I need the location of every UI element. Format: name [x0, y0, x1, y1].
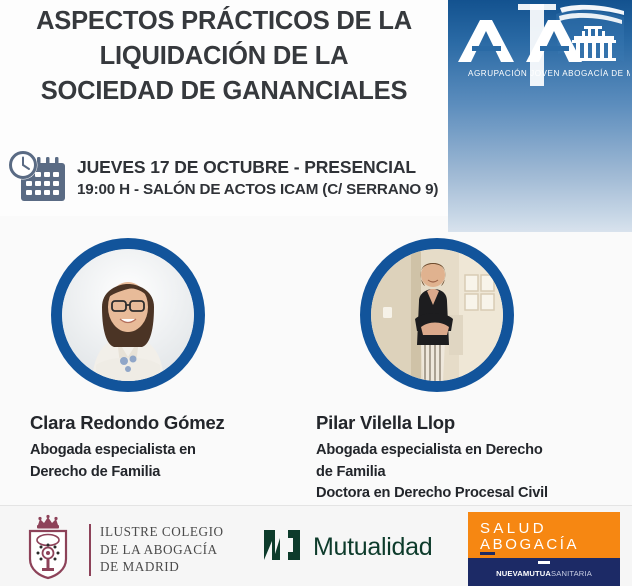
sponsor-footer: ILUSTRE COLEGIO DE LA ABOGACÍA DE MADRID…	[0, 506, 632, 586]
speaker-role-line: Doctora en Derecho Procesal Civil	[316, 483, 602, 504]
mutualidad-logo: Mutualidad	[262, 528, 432, 567]
speaker-role: Abogada especialista en Derecho de Famil…	[30, 440, 316, 483]
speakers-section: Clara Redondo Gómez Abogada especialista…	[0, 238, 632, 500]
icam-logo: ILUSTRE COLEGIO DE LA ABOGACÍA DE MADRID	[22, 514, 224, 585]
speaker-role: Abogada especialista en Derecho de Famil…	[316, 440, 602, 504]
aja-tagline: AGRUPACIÓN JOVEN ABOGACÍA DE MADRID	[468, 69, 630, 78]
icam-line-2: DE LA ABOGACÍA	[100, 541, 224, 559]
nuevamutua-sanitaria-wordmark: NUEVAMUTUASANITARIA	[496, 569, 592, 578]
speaker-photo-1	[62, 249, 194, 381]
calendar-clock-icon	[6, 150, 68, 206]
event-text: JUEVES 17 DE OCTUBRE - PRESENCIAL 19:00 …	[77, 156, 632, 200]
speaker-card-clara-redondo-gomez: Clara Redondo Gómez Abogada especialista…	[16, 238, 316, 483]
speaker-name: Pilar Vilella Llop	[316, 412, 602, 434]
speaker-role-line: Abogada especialista en	[30, 440, 316, 461]
abogacia-word: ABOGACÍA	[480, 537, 620, 553]
salud-abogacia-banner: SALUD ABOGACÍA	[468, 512, 620, 558]
icam-logo-divider	[89, 524, 91, 576]
avatar	[360, 238, 514, 392]
salud-accent-bar	[480, 552, 495, 555]
salud-sponsor-bar: NUEVAMUTUASANITARIA	[468, 558, 620, 586]
icam-line-3: DE MADRID	[100, 558, 224, 576]
icam-crest-icon	[22, 514, 80, 585]
salud-word: SALUD	[480, 521, 620, 537]
sponsor-bold-part: NUEVAMUTUA	[496, 569, 551, 578]
event-date: JUEVES 17 DE OCTUBRE - PRESENCIAL	[77, 157, 416, 177]
title-line-2: LIQUIDACIÓN DE LA	[8, 39, 440, 74]
sponsor-tick-icon	[538, 561, 550, 564]
speaker-photo-2	[371, 249, 503, 381]
title-line-1: ASPECTOS PRÁCTICOS DE LA	[8, 4, 440, 39]
speaker-name: Clara Redondo Gómez	[30, 412, 316, 434]
poster-title: ASPECTOS PRÁCTICOS DE LA LIQUIDACIÓN DE …	[8, 4, 440, 110]
avatar	[51, 238, 205, 392]
aja-logo: AGRUPACIÓN JOVEN ABOGACÍA DE MADRID	[452, 2, 630, 88]
icam-wordmark: ILUSTRE COLEGIO DE LA ABOGACÍA DE MADRID	[100, 523, 224, 576]
sponsor-light-part: SANITARIA	[551, 569, 592, 578]
mutualidad-mark-icon	[262, 528, 302, 567]
event-venue: 19:00 H - SALÓN DE ACTOS ICAM (C/ SERRAN…	[77, 181, 438, 198]
speaker-role-line: de Familia	[316, 462, 602, 483]
icam-line-1: ILUSTRE COLEGIO	[100, 523, 224, 541]
salud-abogacia-logo: SALUD ABOGACÍA NUEVAMUTUASANITARIA	[468, 512, 620, 586]
speaker-role-line: Derecho de Familia	[30, 462, 316, 483]
speaker-role-line: Abogada especialista en Derecho	[316, 440, 602, 461]
mutualidad-wordmark: Mutualidad	[313, 533, 432, 562]
speaker-card-pilar-vilella-llop: Pilar Vilella Llop Abogada especialista …	[302, 238, 602, 505]
event-details: JUEVES 17 DE OCTUBRE - PRESENCIAL 19:00 …	[6, 150, 632, 206]
title-line-3: SOCIEDAD DE GANANCIALES	[8, 74, 440, 109]
event-poster: AGRUPACIÓN JOVEN ABOGACÍA DE MADRID ASPE…	[0, 0, 632, 586]
